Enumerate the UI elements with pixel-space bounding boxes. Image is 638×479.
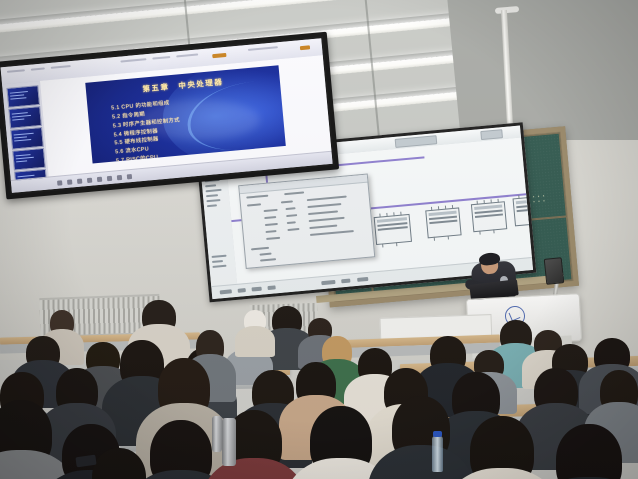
student (600, 370, 638, 414)
student (0, 400, 52, 470)
student (272, 306, 302, 336)
slide-thumbnail[interactable] (10, 127, 44, 150)
cad-chip[interactable] (425, 207, 461, 238)
slide-thumbnail[interactable] (12, 148, 46, 171)
student (50, 310, 74, 336)
student (556, 424, 622, 479)
student (534, 368, 578, 416)
cad-chip[interactable] (471, 201, 507, 232)
student (594, 338, 630, 374)
wall-monitor[interactable] (544, 257, 565, 285)
slide-thumbnail[interactable] (8, 106, 42, 129)
student (244, 310, 266, 332)
classroom-photo: M_DATA (0, 0, 638, 479)
student (150, 420, 212, 479)
student (470, 416, 534, 479)
slide-thumbnail[interactable] (6, 85, 40, 108)
cad-properties-dialog[interactable] (238, 174, 375, 269)
cad-chip[interactable] (374, 214, 412, 245)
student (310, 406, 372, 478)
thermos-flask (222, 418, 236, 466)
student (56, 368, 98, 416)
student (296, 362, 336, 408)
thermos-flask (212, 416, 222, 452)
student (92, 448, 146, 479)
student (142, 300, 176, 334)
student (26, 336, 60, 370)
student (158, 358, 210, 420)
water-bottle (432, 436, 443, 472)
student (500, 320, 532, 352)
student (430, 336, 466, 374)
